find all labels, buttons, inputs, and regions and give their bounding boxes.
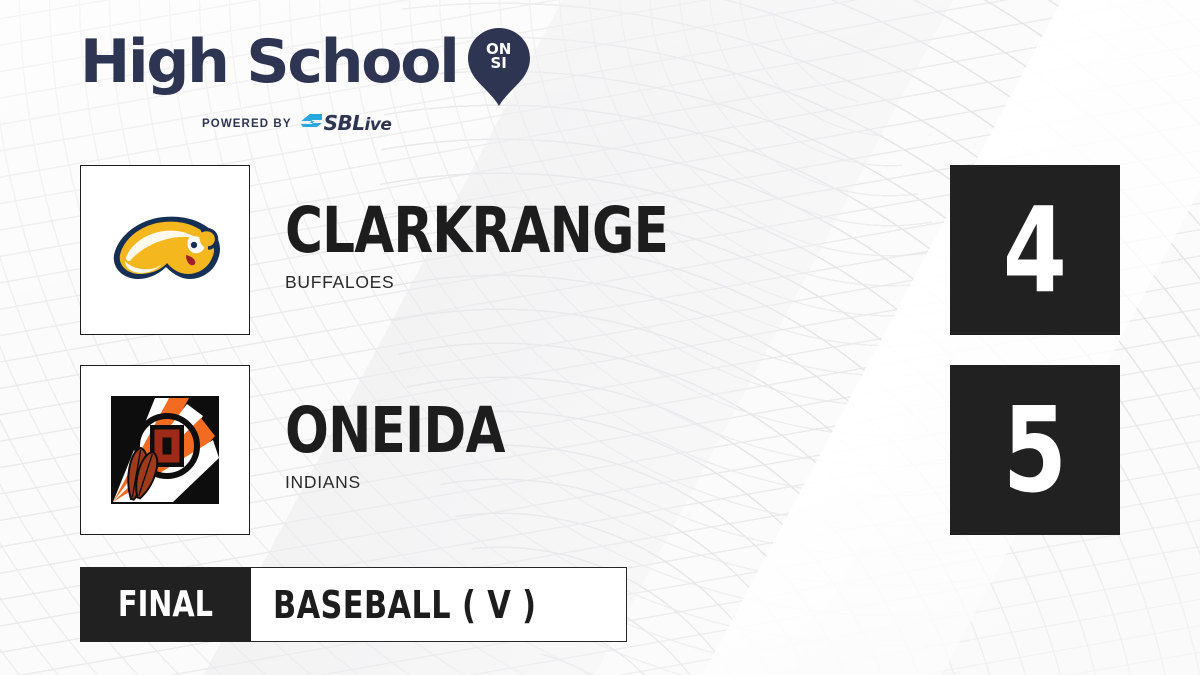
team-mascot: BUFFALOES: [285, 272, 925, 293]
brand-wordmark-text: High School: [80, 32, 458, 92]
status-bar: FINAL BASEBALL ( V ): [80, 567, 627, 642]
team-name: ONEIDA: [285, 401, 810, 461]
brand-header: High School ON SI POWERED BY SBLiv: [80, 32, 530, 134]
sblive-upper: SBL: [324, 111, 365, 135]
clarkrange-buffaloes-logo: [80, 165, 250, 335]
sblive-lower: ive: [365, 115, 392, 135]
team-text-block: ONEIDA INDIANS: [285, 401, 925, 493]
pin-label-line2: SI: [468, 56, 530, 70]
sblive-logo: SBLive: [300, 113, 392, 134]
team-name: CLARKRANGE: [285, 201, 810, 261]
oneida-indians-logo: [80, 365, 250, 535]
team-text-block: CLARKRANGE BUFFALOES: [285, 201, 925, 293]
team-mascot: INDIANS: [285, 472, 925, 493]
team-score-box: 5: [950, 365, 1120, 535]
powered-by-row: POWERED BY SBLive: [202, 113, 530, 134]
sport-label: BASEBALL ( V ): [273, 586, 536, 624]
scoreboard-graphic: High School ON SI POWERED BY SBLiv: [0, 0, 1200, 675]
powered-by-label: POWERED BY: [202, 118, 292, 130]
sblive-wordmark: SBLive: [324, 113, 392, 134]
team-score: 5: [1003, 391, 1066, 509]
map-pin-icon: ON SI: [468, 28, 530, 106]
brand-wordmark: High School ON SI: [80, 32, 530, 106]
status-badge: FINAL: [80, 567, 251, 642]
team-score-box: 4: [950, 165, 1120, 335]
status-state-label: FINAL: [118, 587, 213, 623]
team-score: 4: [1003, 191, 1066, 309]
sblive-s-icon: [300, 113, 322, 134]
pin-label: ON SI: [468, 42, 530, 70]
sport-label-box: BASEBALL ( V ): [251, 567, 627, 642]
